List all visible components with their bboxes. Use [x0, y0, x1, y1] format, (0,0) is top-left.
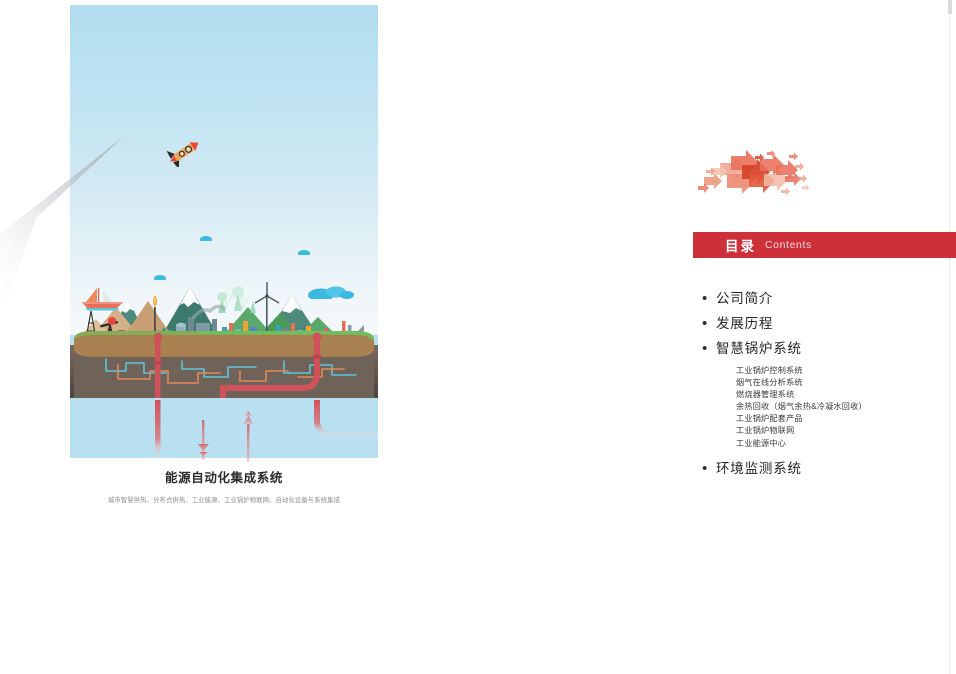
toc-item-label: 环境监测系统	[716, 460, 802, 478]
rocket-icon	[166, 135, 206, 167]
cloud-icon	[200, 233, 212, 241]
contents-banner: 目录 Contents	[693, 232, 956, 258]
toc-item[interactable]: • 发展历程	[702, 315, 956, 333]
toc-item[interactable]: • 环境监测系统	[702, 460, 956, 478]
toc-sublist: 工业锅炉控制系统 烟气在线分析系统 燃烧器管理系统 余热回收（烟气余热&冷凝水回…	[702, 365, 956, 450]
poster-image	[70, 5, 378, 458]
arrow-cluster-decoration-icon	[690, 148, 815, 200]
toc-subitem[interactable]: 燃烧器管理系统	[736, 389, 956, 401]
poster-caption: 能源自动化集成系统 城市智慧供热、分布式供热、工业能源、工业锅炉物联网、自动化设…	[70, 470, 378, 506]
toc-item[interactable]: • 公司简介	[702, 290, 956, 308]
toc-item-label: 公司简介	[716, 290, 773, 308]
sailboat-icon	[80, 286, 126, 312]
slide-canvas: 能源自动化集成系统 城市智慧供热、分布式供热、工业能源、工业锅炉物联网、自动化设…	[0, 0, 956, 674]
toc-entry-smart-boiler-system: • 智慧锅炉系统 工业锅炉控制系统 烟气在线分析系统 燃烧器管理系统 余热回收（…	[702, 340, 956, 450]
heat-pipe-extension	[70, 400, 378, 462]
toc-subitem[interactable]: 工业能源中心	[736, 438, 956, 450]
toc-subitem[interactable]: 工业锅炉物联网	[736, 425, 956, 437]
toc-item-label: 智慧锅炉系统	[716, 340, 802, 358]
contents-banner-title-en: Contents	[765, 239, 812, 251]
cloud-icon	[298, 247, 310, 255]
page-edge-marker	[948, 0, 952, 14]
bullet-icon: •	[702, 290, 716, 308]
toc-subitem[interactable]: 余热回收（烟气余热&冷凝水回收）	[736, 401, 956, 413]
bullet-icon: •	[702, 340, 716, 358]
toc-entry-company-profile: • 公司简介	[702, 290, 956, 308]
toc-entry-environmental-monitoring: • 环境监测系统	[702, 460, 956, 478]
contents-banner-title-cn: 目录	[725, 235, 756, 255]
poster-title: 能源自动化集成系统	[70, 470, 378, 486]
toc-subitem[interactable]: 烟气在线分析系统	[736, 377, 956, 389]
bullet-icon: •	[702, 460, 716, 478]
toc-list: • 公司简介 • 发展历程 • 智慧锅炉系统 工业锅炉控制系统 烟气在线分析系统	[702, 290, 956, 485]
toc-entry-development-history: • 发展历程	[702, 315, 956, 333]
poster-subtitle: 城市智慧供热、分布式供热、工业能源、工业锅炉物联网、自动化设备与系统集成	[70, 496, 378, 506]
toc-item-label: 发展历程	[716, 315, 773, 333]
toc-subitem[interactable]: 工业锅炉配套产品	[736, 413, 956, 425]
bullet-icon: •	[702, 315, 716, 333]
toc-item[interactable]: • 智慧锅炉系统	[702, 340, 956, 358]
toc-subitem[interactable]: 工业锅炉控制系统	[736, 365, 956, 377]
poster-illustration-frame	[70, 5, 378, 458]
